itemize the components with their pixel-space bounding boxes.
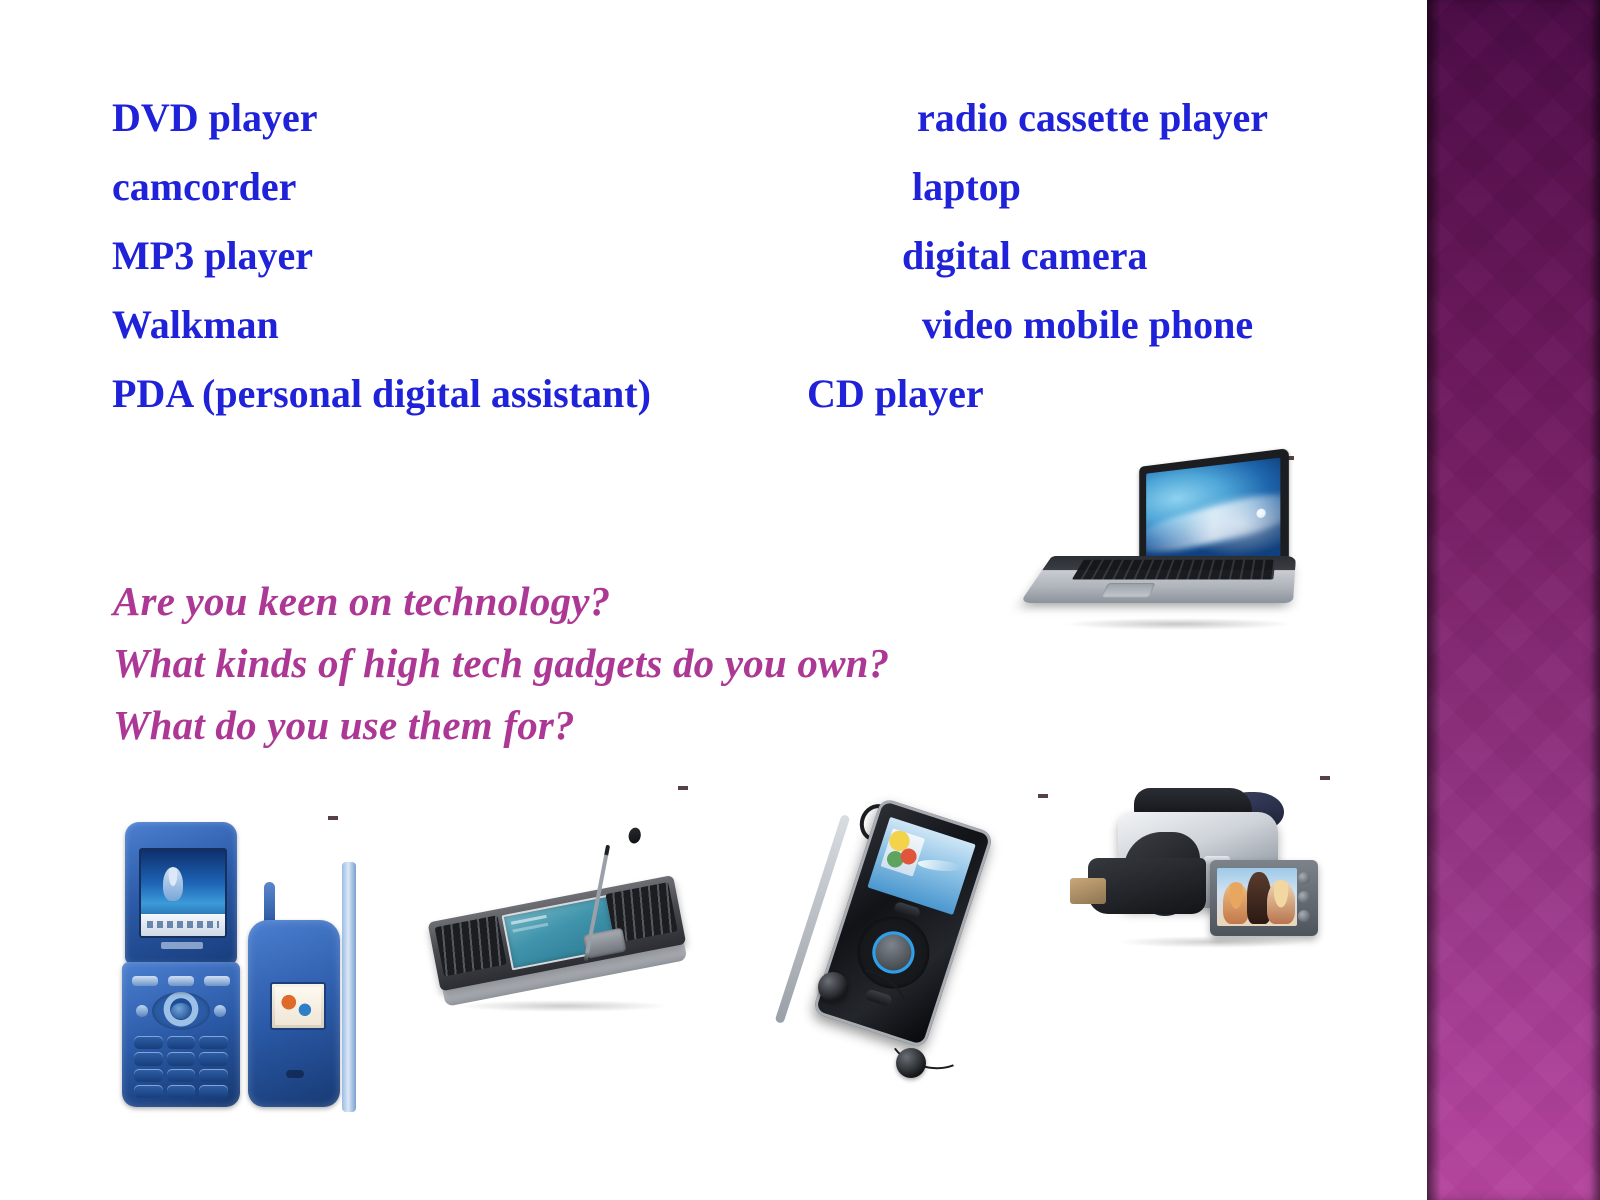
laptop-screen-logo-icon [1256,508,1265,518]
image-corner-mark [1320,776,1330,780]
question-line: Are you keen on technology? [113,570,889,632]
camcorder-lcd-image [1217,868,1297,926]
phone-dpad-right-key [214,1005,226,1017]
mp3-screen-highlight [917,858,962,873]
camcorder-shadow [1116,936,1306,948]
flip-phone-closed [248,882,340,1107]
phone-dpad-left-key [136,1005,148,1017]
band-right-shadow [1590,0,1600,1200]
vocabulary-row: MP3 player digital camera [112,226,1292,295]
discussion-questions: Are you keen on technology? What kinds o… [113,570,889,756]
camcorder-lcd-buttons [1298,872,1310,922]
mp3-album-art [880,828,925,877]
slide-canvas: DVD player radio cassette player camcord… [0,0,1600,1200]
flip-phone-upper-shell [125,822,237,964]
phone-keypad [134,1036,228,1098]
earbud [818,972,848,1002]
pda-photo [428,860,698,1030]
mp3-player-photo [800,800,1050,1100]
vocab-item-right: CD player [807,364,984,424]
laptop-screen [1146,458,1280,567]
phone-brand-label [161,942,203,949]
phone-microphone [286,1070,304,1078]
flip-phone-screen [139,848,227,938]
camcorder-strap [1070,878,1106,904]
decorative-side-band [1427,0,1600,1200]
mp3-wheel-center-button [871,930,916,975]
phone-external-display [270,982,326,1030]
phone-dpad [152,992,210,1030]
image-corner-mark [1038,794,1048,798]
vocab-item-right: radio cassette player [917,88,1268,148]
band-left-shadow [1427,0,1441,1200]
screen-status-bar [141,914,225,936]
screen-wallpaper-figure [163,867,183,901]
phone-side-profile [342,862,356,1112]
vocab-item-left: Walkman [112,295,279,355]
image-corner-mark [328,816,338,820]
mobile-phones-photo [110,822,375,1112]
vocabulary-row: Walkman video mobile phone [112,295,1292,364]
vocabulary-list: DVD player radio cassette player camcord… [112,88,1292,433]
pda-shadow [456,1000,670,1012]
flip-phone-open [122,822,240,1107]
camcorder-lcd-panel [1210,860,1318,936]
vocabulary-row: PDA (personal digital assistant) CD play… [112,364,1292,433]
vocab-item-left: DVD player [112,88,318,148]
vocab-item-right: laptop [912,157,1021,217]
flip-phone-lower-shell [122,962,240,1107]
vocabulary-row: DVD player radio cassette player [112,88,1292,157]
diamond-pattern-overlay [1427,0,1600,1200]
closed-phone-shell [248,920,340,1107]
laptop-touchpad [1101,583,1155,598]
image-corner-mark [678,786,688,790]
lcd-person [1223,882,1249,924]
question-line: What do you use them for? [113,694,889,756]
pda-keyboard-left [435,915,507,976]
vocab-item-left: MP3 player [112,226,313,286]
vocabulary-row: camcorder laptop [112,157,1292,226]
vocab-item-left: PDA (personal digital assistant) [112,364,651,424]
laptop-shadow [1062,618,1294,630]
phone-soft-key-row [132,976,230,986]
mp3-screen [867,817,975,915]
pda-device [428,875,691,1013]
laptop-base [1020,556,1296,603]
vocab-item-right: digital camera [902,226,1148,286]
camcorder-photo [1076,786,1336,966]
laptop-photo [1046,452,1308,637]
lcd-person [1267,880,1295,924]
earbud [896,1048,926,1078]
pda-stylus-tip [627,827,642,845]
question-line: What kinds of high tech gadgets do you o… [113,632,889,694]
laptop-keyboard [1072,560,1276,580]
vocab-item-right: video mobile phone [922,295,1253,355]
vocab-item-left: camcorder [112,157,296,217]
